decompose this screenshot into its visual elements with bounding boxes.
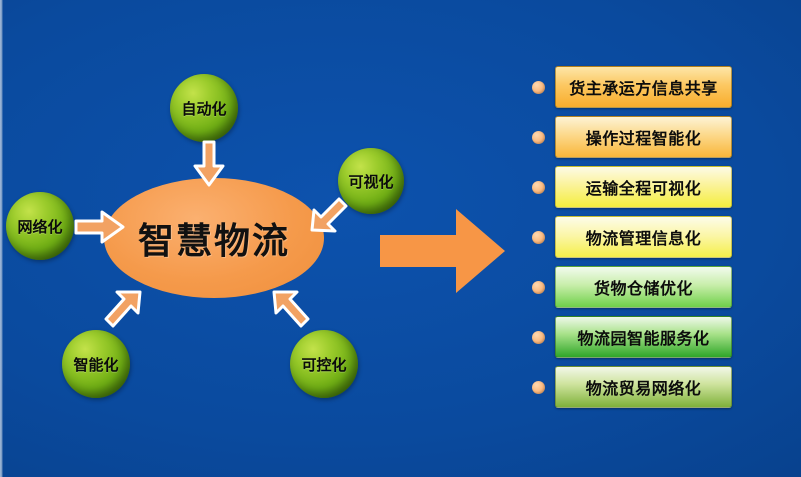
- input-node-label: 可控化: [301, 354, 346, 375]
- slide-left-edge: [0, 0, 3, 477]
- input-node-label: 可视化: [348, 171, 393, 192]
- arrow-down-icon: [192, 140, 226, 188]
- outcome-chip[interactable]: 物流园智能服务化: [555, 316, 732, 358]
- outcome-row[interactable]: 操作过程智能化: [532, 116, 732, 158]
- outcome-chip[interactable]: 操作过程智能化: [555, 116, 732, 158]
- outcome-row[interactable]: 货物仓储优化: [532, 266, 732, 308]
- input-node-label: 智能化: [73, 354, 118, 375]
- input-node-automation[interactable]: 自动化: [170, 74, 238, 142]
- central-concept-ellipse[interactable]: 智慧物流: [104, 178, 324, 298]
- input-node-label: 网络化: [17, 216, 62, 237]
- outcome-chip[interactable]: 货主承运方信息共享: [555, 66, 732, 108]
- outcome-chip[interactable]: 运输全程可视化: [555, 166, 732, 208]
- input-node-controllability[interactable]: 可控化: [290, 330, 358, 398]
- outcome-row[interactable]: 物流贸易网络化: [532, 366, 732, 408]
- input-node-label: 自动化: [181, 98, 226, 119]
- arrow-down-left-icon: [308, 196, 352, 240]
- outcome-row[interactable]: 物流管理信息化: [532, 216, 732, 258]
- input-node-intelligence[interactable]: 智能化: [62, 330, 130, 398]
- arrow-up-right-icon: [100, 288, 146, 336]
- bullet-dot-icon: [532, 181, 545, 194]
- outcome-row[interactable]: 物流园智能服务化: [532, 316, 732, 358]
- bullet-dot-icon: [532, 331, 545, 344]
- outcome-chip[interactable]: 物流管理信息化: [555, 216, 732, 258]
- arrow-up-left-icon: [268, 288, 314, 336]
- arrow-right-icon: [74, 208, 126, 246]
- outcome-chip[interactable]: 物流贸易网络化: [555, 366, 732, 408]
- outcome-chip[interactable]: 货物仓储优化: [555, 266, 732, 308]
- bullet-dot-icon: [532, 281, 545, 294]
- bullet-dot-icon: [532, 131, 545, 144]
- slide-canvas: 智慧物流 自动化 网络化 可视化 智能化 可控化 货主承运方信息共享 操作过程智…: [0, 0, 801, 477]
- outcome-row[interactable]: 货主承运方信息共享: [532, 66, 732, 108]
- bullet-dot-icon: [532, 81, 545, 94]
- big-right-arrow-icon: [378, 205, 508, 297]
- input-node-networking[interactable]: 网络化: [6, 192, 74, 260]
- outcomes-list: 货主承运方信息共享 操作过程智能化 运输全程可视化 物流管理信息化 货物仓储优化…: [532, 66, 732, 408]
- central-concept-label: 智慧物流: [138, 212, 290, 264]
- bullet-dot-icon: [532, 381, 545, 394]
- outcome-row[interactable]: 运输全程可视化: [532, 166, 732, 208]
- bullet-dot-icon: [532, 231, 545, 244]
